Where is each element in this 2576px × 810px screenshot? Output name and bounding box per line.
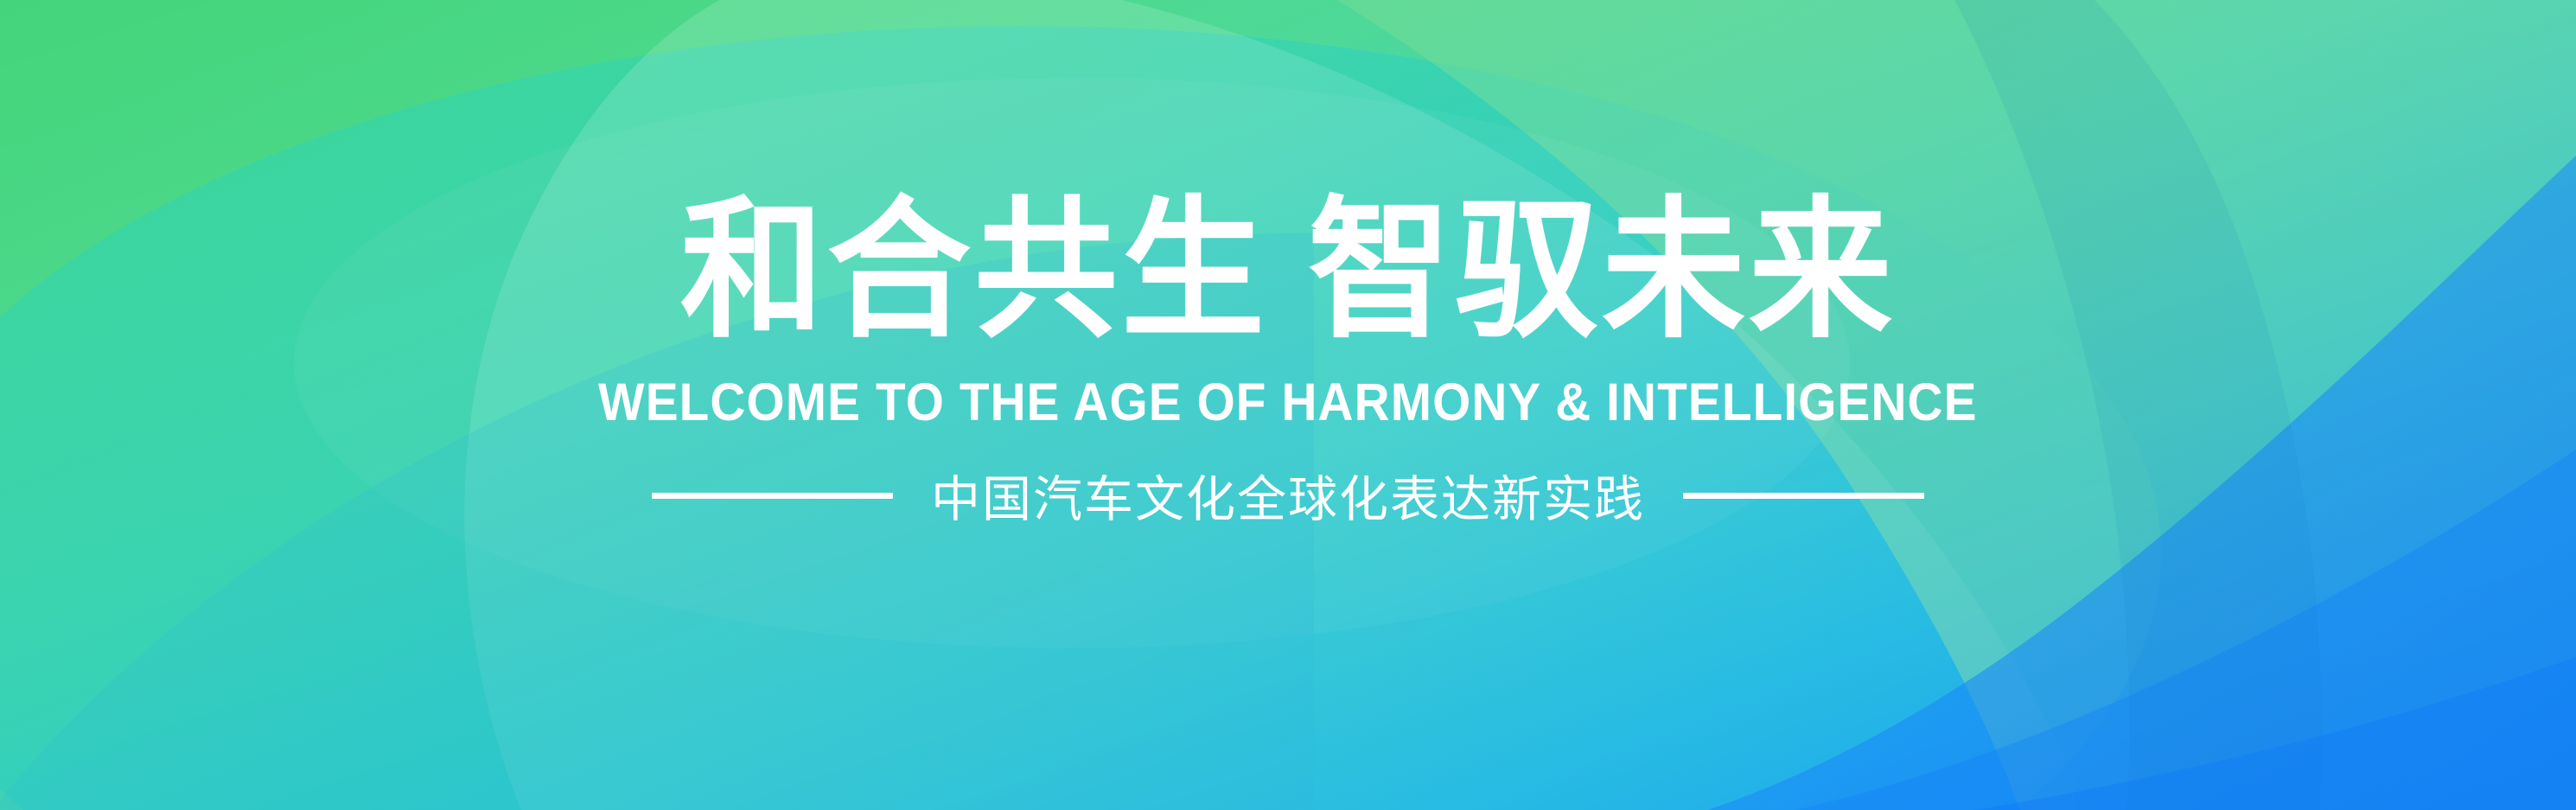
page-title: 和合共生智驭未来 bbox=[680, 195, 1896, 348]
rule-left-icon bbox=[652, 493, 893, 499]
rule-right-icon bbox=[1683, 493, 1924, 499]
headline-phrase-left: 和合共生 bbox=[680, 182, 1268, 360]
subtitle-english: WELCOME TO THE AGE OF HARMONY & INTELLIG… bbox=[598, 372, 1978, 432]
headline-phrase-right: 智驭未来 bbox=[1308, 182, 1896, 360]
tagline-row: 中国汽车文化全球化表达新实践 bbox=[652, 460, 1924, 531]
tagline-chinese: 中国汽车文化全球化表达新实践 bbox=[931, 460, 1645, 531]
banner-content: 和合共生智驭未来 WELCOME TO THE AGE OF HARMONY &… bbox=[0, 0, 2576, 810]
banner-hero: 和合共生智驭未来 WELCOME TO THE AGE OF HARMONY &… bbox=[0, 0, 2576, 810]
